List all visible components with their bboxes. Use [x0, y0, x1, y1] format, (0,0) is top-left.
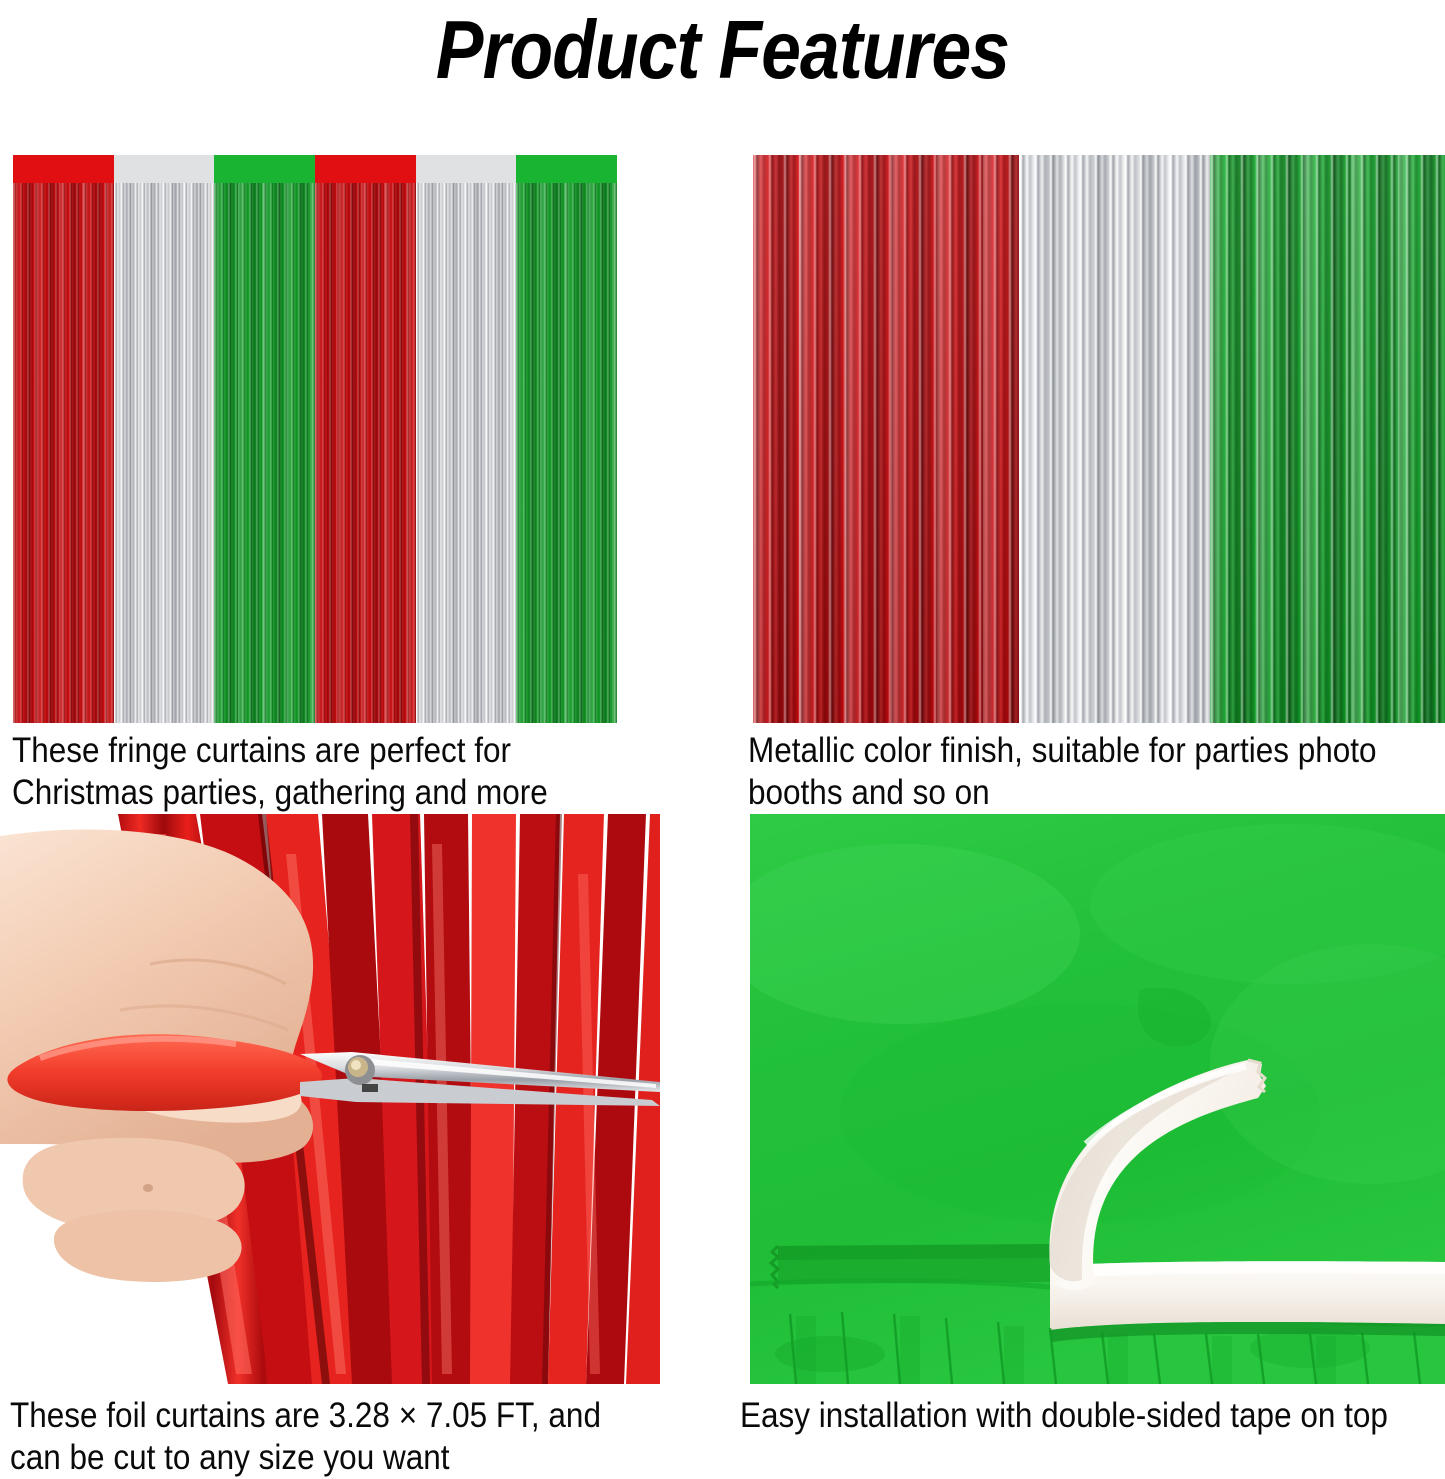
fringe-texture — [416, 155, 517, 723]
fringe-strip-red-1 — [13, 155, 114, 723]
green-foil-tape-image — [750, 814, 1445, 1384]
scissors-cutting-illustration — [0, 814, 660, 1384]
double-sided-tape-illustration — [750, 814, 1445, 1384]
foil-texture — [1210, 155, 1445, 723]
strip-header-band — [315, 155, 416, 183]
strip-header-band — [214, 155, 315, 183]
strip-header-band — [516, 155, 617, 183]
fringe-strip-silver-1 — [114, 155, 215, 723]
metallic-column-row — [753, 155, 1445, 723]
feature-caption-double-sided-tape: Easy installation with double-sided tape… — [740, 1395, 1445, 1437]
fringe-strip-red-2 — [315, 155, 416, 723]
fringe-texture — [214, 155, 315, 723]
feature-cell-fringe-curtain-set — [13, 155, 617, 723]
metallic-column-green — [1210, 155, 1445, 723]
strip-header-band — [114, 155, 215, 183]
feature-cell-cuttable-size — [0, 814, 660, 1384]
fringe-texture — [13, 155, 114, 723]
fringe-strip-row — [13, 155, 617, 723]
fringe-texture — [114, 155, 215, 723]
feature-caption-cuttable-size: These foil curtains are 3.28 × 7.05 FT, … — [10, 1395, 676, 1479]
feature-caption-fringe-curtain-set: These fringe curtains are perfect for Ch… — [12, 730, 642, 814]
scissors-cutting-image — [0, 814, 660, 1384]
foil-texture — [1019, 155, 1209, 723]
fringe-strip-green-2 — [516, 155, 617, 723]
metallic-foil-closeup-image — [753, 155, 1445, 723]
fringe-curtains-image — [13, 155, 617, 723]
feature-cell-double-sided-tape — [750, 814, 1445, 1384]
feature-cell-metallic-finish — [753, 155, 1445, 723]
fringe-strip-green-1 — [214, 155, 315, 723]
strip-header-band — [416, 155, 517, 183]
metallic-column-red — [753, 155, 1019, 723]
foil-texture — [753, 155, 1019, 723]
fringe-texture — [315, 155, 416, 723]
metallic-column-silver — [1019, 155, 1209, 723]
fringe-texture — [516, 155, 617, 723]
strip-header-band — [13, 155, 114, 183]
feature-caption-metallic-finish: Metallic color finish, suitable for part… — [748, 730, 1445, 814]
fringe-strip-silver-2 — [416, 155, 517, 723]
